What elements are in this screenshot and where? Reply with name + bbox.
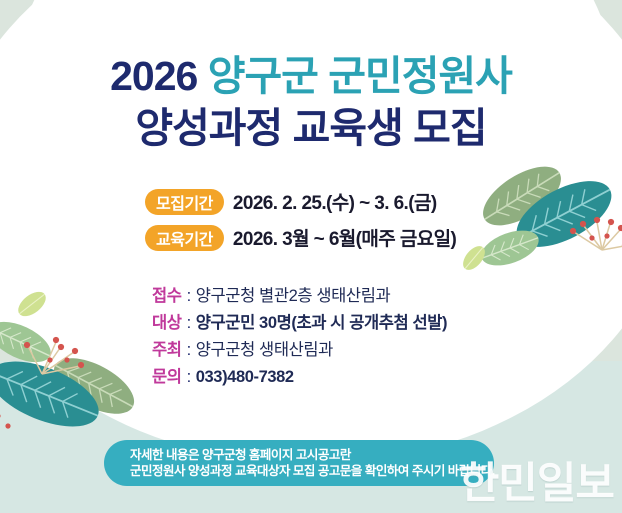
poster-title: 2026 양구군 군민정원사 양성과정 교육생 모집 — [0, 50, 622, 154]
footer-notice-text: 자세한 내용은 양구군청 홈페이지 고시공고란 군민정원사 양성과정 교육대상자… — [130, 447, 495, 479]
schedule-badges: 모집기간 2026. 2. 25.(수) ~ 3. 6.(금) 교육기간 202… — [0, 186, 622, 258]
poster-root: 2026 양구군 군민정원사 양성과정 교육생 모집 모집기간 2026. 2.… — [0, 0, 622, 513]
badge-value-training: 2026. 3월 ~ 6월(매주 금요일) — [233, 224, 456, 251]
title-line-1: 2026 양구군 군민정원사 — [0, 50, 622, 102]
info-value-application: 양구군청 별관2층 생태산림과 — [196, 282, 391, 306]
info-value-target: 양구군민 30명(초과 시 공개추첨 선발) — [196, 309, 447, 333]
badge-value-recruitment: 2026. 2. 25.(수) ~ 3. 6.(금) — [233, 188, 437, 215]
info-separator: : — [187, 314, 191, 333]
title-subject: 양구군 군민정원사 — [208, 53, 512, 99]
info-separator: : — [187, 368, 191, 387]
info-label-host: 주최 — [152, 336, 182, 360]
info-row-host: 주최 : 양구군청 생태산림과 — [152, 336, 622, 363]
badge-label-training: 교육기간 — [145, 225, 224, 251]
info-separator: : — [187, 341, 191, 360]
footer-notice-line-1: 자세한 내용은 양구군청 홈페이지 고시공고란 — [130, 447, 495, 463]
badge-row-recruitment: 모집기간 2026. 2. 25.(수) ~ 3. 6.(금) — [0, 186, 622, 217]
title-year: 2026 — [110, 53, 197, 99]
info-label-target: 대상 — [152, 309, 182, 333]
info-row-target: 대상 : 양구군민 30명(초과 시 공개추첨 선발) — [152, 309, 622, 336]
info-value-contact: 033)480-7382 — [196, 368, 294, 387]
badge-row-training: 교육기간 2026. 3월 ~ 6월(매주 금요일) — [0, 222, 622, 253]
info-label-application: 접수 — [152, 282, 182, 306]
info-label-contact: 문의 — [152, 363, 182, 387]
info-row-application: 접수 : 양구군청 별관2층 생태산림과 — [152, 282, 622, 309]
info-list: 접수 : 양구군청 별관2층 생태산림과 대상 : 양구군민 30명(초과 시 … — [0, 282, 622, 390]
title-line-2: 양성과정 교육생 모집 — [0, 102, 622, 154]
footer-notice-line-2: 군민정원사 양성과정 교육대상자 모집 공고문을 확인하여 주시기 바랍니다. — [130, 463, 495, 479]
badge-label-recruitment: 모집기간 — [145, 189, 224, 215]
info-row-contact: 문의 : 033)480-7382 — [152, 363, 622, 390]
footer-notice-banner: 자세한 내용은 양구군청 홈페이지 고시공고란 군민정원사 양성과정 교육대상자… — [104, 440, 494, 486]
info-value-host: 양구군청 생태산림과 — [196, 336, 333, 360]
publisher-watermark: 한민일보 — [460, 449, 614, 511]
info-separator: : — [187, 287, 191, 306]
